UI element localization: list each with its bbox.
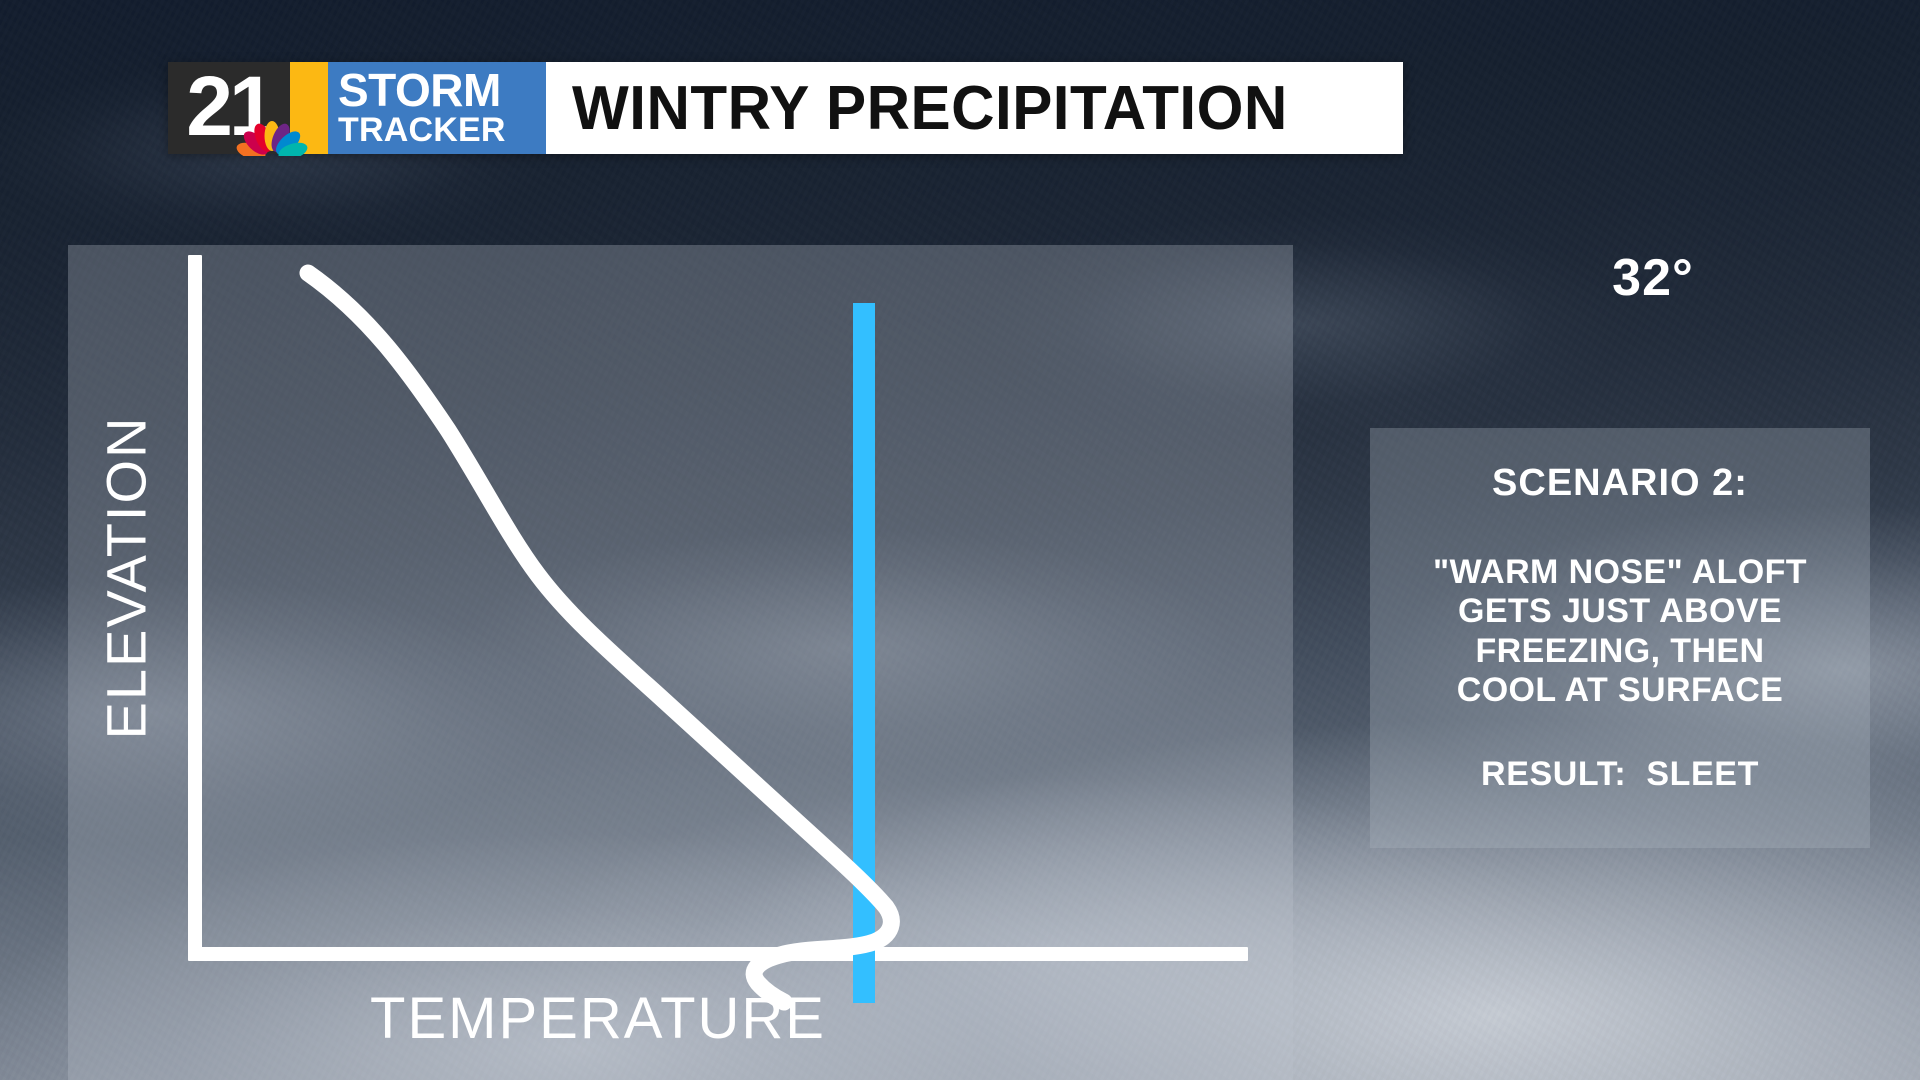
scenario-description: "WARM NOSE" ALOFT GETS JUST ABOVE FREEZI… xyxy=(1433,553,1807,711)
scenario-line: FREEZING, THEN xyxy=(1433,632,1807,671)
scenario-line: COOL AT SURFACE xyxy=(1433,671,1807,710)
scenario-result: RESULT: SLEET xyxy=(1481,755,1759,794)
brand-block: STORM TRACKER xyxy=(328,62,546,154)
header-bar: 21 STORM TRACKER WINTRY PRECIPITATION xyxy=(168,62,1403,154)
sounding-plot: ELEVATION TEMPERATURE 32° xyxy=(68,245,1293,1080)
temperature-sounding-curve xyxy=(68,245,1293,1080)
logo-accent-bar xyxy=(290,62,328,154)
chart-panel: ELEVATION TEMPERATURE 32° xyxy=(68,245,1293,1080)
title-plate: WINTRY PRECIPITATION xyxy=(546,62,1403,154)
channel-number-label: 21 xyxy=(186,64,271,148)
scenario-info-panel: SCENARIO 2: "WARM NOSE" ALOFT GETS JUST … xyxy=(1370,428,1870,848)
scenario-line: "WARM NOSE" ALOFT xyxy=(1433,553,1807,592)
brand-line-2: TRACKER xyxy=(338,113,546,147)
freezing-temperature-label: 32° xyxy=(1553,248,1753,308)
scenario-line: GETS JUST ABOVE xyxy=(1433,592,1807,631)
channel-number-block: 21 xyxy=(168,62,290,154)
scenario-heading: SCENARIO 2: xyxy=(1492,462,1748,505)
brand-line-1: STORM xyxy=(338,69,546,112)
page-title: WINTRY PRECIPITATION xyxy=(572,73,1288,144)
